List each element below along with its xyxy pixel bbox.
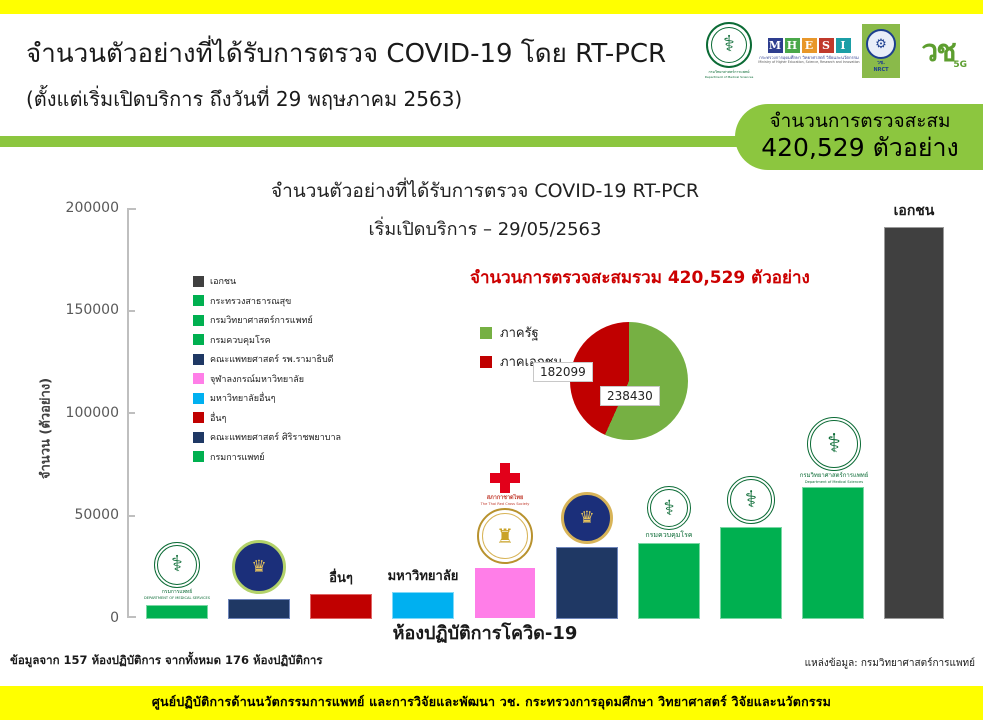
y-tick-50000: 50000: [33, 507, 119, 523]
caduceus-seal-icon: ⚕: [154, 542, 200, 588]
mhesi-logo: M H E S I กระทรวงการอุดมศึกษา วิทยาศาสตร…: [763, 38, 855, 65]
red-cross-icon: [490, 463, 520, 493]
y-tick-100000: 100000: [33, 405, 119, 421]
bar-others[interactable]: [311, 595, 371, 618]
vc5g-wordmark: วช: [921, 28, 954, 75]
chula-seal-icon: ♜: [477, 508, 533, 564]
page-subtitle: (ตั้งแต่เริ่มเปิดบริการ ถึงวันที่ 29 พฤษ…: [26, 88, 746, 111]
ramathibodi-seal-icon: ♛: [561, 492, 613, 544]
dms-logo-label-en: Department of Medical Sciences: [705, 76, 754, 80]
siriraj-seal-icon: ♛: [232, 540, 286, 594]
bar-logo-ramathibodi: ♛: [557, 492, 617, 544]
mhesi-letter-m: M: [768, 38, 783, 53]
bar-dmsci[interactable]: [803, 488, 863, 618]
chart-title: จำนวนตัวอย่างที่ได้รับการตรวจ COVID-19 R…: [150, 176, 820, 206]
bar-plot-area: ⚕ กรมการแพทย์ DEPARTMENT OF MEDICAL SERV…: [129, 208, 975, 618]
y-tick-0: 0: [33, 610, 119, 626]
bar-label-others: อื่นๆ: [311, 567, 371, 588]
bar-label-private: เอกชน: [875, 200, 953, 222]
mhesi-letter-e: E: [802, 38, 817, 53]
bar-logo-chulalongkorn: สภากาชาดไทย The Thai Red Cross Society ♜: [473, 463, 537, 564]
mhesi-letter-i: I: [836, 38, 851, 53]
mhesi-letter-h: H: [785, 38, 800, 53]
vc5g-sub-label: 5G: [953, 60, 967, 70]
header-logo-group: ⚕ กรมวิทยาศาสตร์การแพทย์ Department of M…: [702, 20, 980, 82]
caduceus-seal-icon: ⚕: [807, 417, 861, 471]
dms-logo: ⚕ กรมวิทยาศาสตร์การแพทย์ Department of M…: [702, 22, 756, 80]
dms-logo-label-th: กรมวิทยาศาสตร์การแพทย์: [708, 70, 749, 74]
chart-container: จำนวนตัวอย่างที่ได้รับการตรวจ COVID-19 R…: [0, 150, 983, 650]
bar-logo-moph: ⚕: [721, 476, 781, 524]
bar-logo-siriraj: ♛: [229, 540, 289, 594]
bar-logo-label-ddc: กรมควบคุมโรค: [645, 531, 692, 540]
nrct-label-th: วช.: [877, 60, 885, 66]
nrct-logo: ⚙ วช. NRCT: [862, 24, 900, 78]
nrct-emblem-icon: ⚙: [866, 29, 896, 59]
bar-dms-services[interactable]: [147, 606, 207, 618]
y-tick-150000: 150000: [33, 302, 119, 318]
redcross-label-th: สภากาชาดไทย: [487, 494, 524, 502]
bar-ddc[interactable]: [639, 544, 699, 618]
y-axis-label: จำนวน (ตัวอย่าง): [35, 354, 56, 504]
bar-logo-ddc: ⚕ กรมควบคุมโรค: [637, 486, 701, 540]
caduceus-seal-icon: ⚕: [647, 486, 691, 530]
x-axis-label: ห้องปฏิบัติการโควิด-19: [150, 618, 820, 647]
bar-logo-dmsci: ⚕ กรมวิทยาศาสตร์การแพทย์ Department of M…: [795, 417, 873, 484]
mhesi-label-en: Ministry of Higher Education, Science, R…: [758, 60, 859, 64]
bar-logo-label-en: DEPARTMENT OF MEDICAL SERVICES: [144, 596, 210, 600]
source-note-right: แหล่งข้อมูล: กรมวิทยาศาสตร์การแพทย์: [805, 656, 975, 671]
bar-logo-label-th: กรมวิทยาศาสตร์การแพทย์: [800, 472, 869, 480]
page-title: จำนวนตัวอย่างที่ได้รับการตรวจ COVID-19 โ…: [26, 40, 746, 70]
caduceus-seal-icon: ⚕: [706, 22, 752, 68]
y-tick-200000: 200000: [33, 200, 119, 216]
vc5g-logo: วช 5G: [907, 24, 969, 78]
footer-text: ศูนย์ปฏิบัติการด้านนวัตกรรมการแพทย์ และก…: [0, 692, 983, 712]
caduceus-seal-icon: ⚕: [727, 476, 775, 524]
bar-private[interactable]: [885, 228, 943, 618]
bar-label-university: มหาวิทยาลัย: [379, 565, 467, 586]
bar-other-universities[interactable]: [393, 593, 453, 618]
bar-logo-dms-services: ⚕ กรมการแพทย์ DEPARTMENT OF MEDICAL SERV…: [145, 542, 209, 600]
mhesi-letter-blocks: M H E S I: [768, 38, 851, 53]
bar-ramathibodi[interactable]: [557, 548, 617, 618]
mhesi-letter-s: S: [819, 38, 834, 53]
bar-moph[interactable]: [721, 528, 781, 618]
bar-siriraj[interactable]: [229, 600, 289, 618]
top-yellow-band: [0, 0, 983, 14]
bar-chulalongkorn[interactable]: [475, 568, 535, 618]
redcross-label-en: The Thai Red Cross Society: [481, 502, 530, 506]
badge-label: จำนวนการตรวจสะสม: [769, 111, 950, 132]
bar-logo-label-en: Department of Medical Sciences: [805, 480, 863, 484]
source-note-left: ข้อมูลจาก 157 ห้องปฏิบัติการ จากทั้งหมด …: [10, 652, 323, 670]
nrct-label-en: NRCT: [873, 67, 888, 73]
